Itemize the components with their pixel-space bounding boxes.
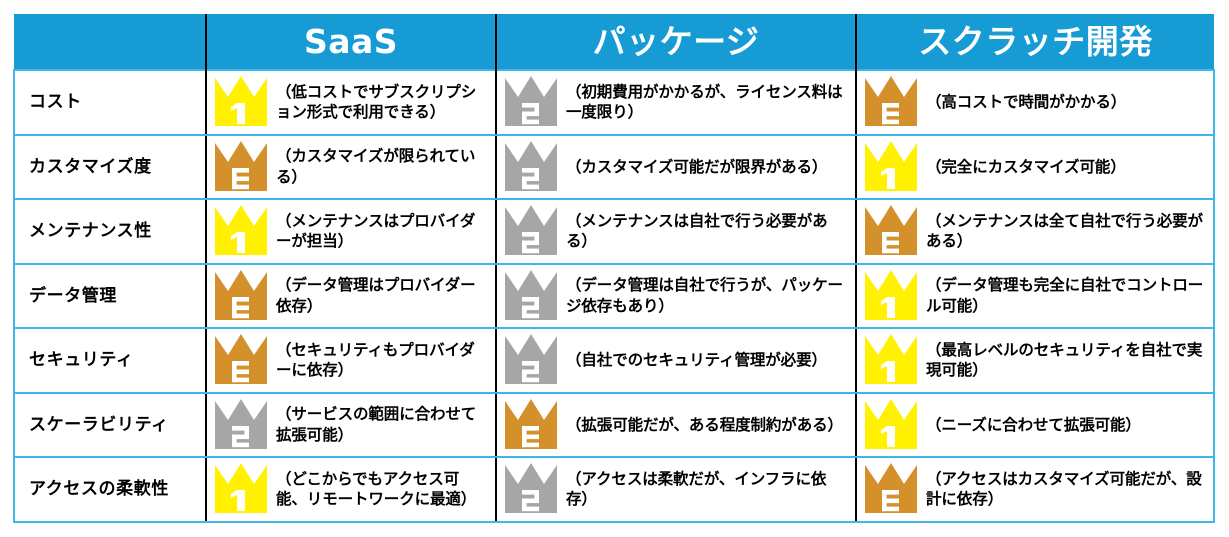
table-row: コスト（低コストでサブスクリプション形式で利用できる）（初期費用がかかるが、ライ… [14,70,1214,135]
rank-2-crown-icon [503,268,559,324]
rank-cell-content: （低コストでサブスクリプション形式で利用できる） [213,74,489,130]
rank-3-crown-icon [503,397,559,453]
row-label-cell: コスト [14,70,206,135]
rank-3-crown-icon [863,203,919,259]
rank-cell-text: （低コストでサブスクリプション形式で利用できる） [276,82,489,123]
rank-cell-text: （アクセスは柔軟だが、インフラに依存） [566,469,849,510]
rank-2-crown-icon [213,397,269,453]
rank-cell: （自社でのセキュリティ管理が必要） [496,328,856,393]
rank-cell-text: （最高レベルのセキュリティを自社で実現可能） [926,340,1207,381]
rank-cell-text: （データ管理も完全に自社でコントロール可能） [926,275,1207,316]
rank-1-crown-icon [213,461,269,517]
rank-cell-content: （メンテナンスは自社で行う必要がある） [503,203,849,259]
rank-1-crown-icon [213,74,269,130]
rank-cell-content: （セキュリティもプロバイダーに依存） [213,332,489,388]
row-label-cell: セキュリティ [14,328,206,393]
rank-cell-content: （カスタマイズが限られている） [213,139,489,195]
rank-cell-content: （サービスの範囲に合わせて拡張可能） [213,397,489,453]
rank-cell-content: （完全にカスタマイズ可能） [863,139,1207,195]
rank-cell: （メンテナンスはプロバイダーが担当） [206,199,496,264]
rank-cell-text: （セキュリティもプロバイダーに依存） [276,340,489,381]
rank-cell: （メンテナンスは全て自社で行う必要がある） [856,199,1214,264]
rank-cell: （拡張可能だが、ある程度制約がある） [496,393,856,458]
rank-cell-text: （カスタマイズ可能だが限界がある） [566,157,849,177]
rank-cell-content: （データ管理は自社で行うが、パッケージ依存もあり） [503,268,849,324]
column-header-saas: SaaS [206,14,496,70]
rank-1-crown-icon [863,268,919,324]
rank-cell: （データ管理も完全に自社でコントロール可能） [856,264,1214,329]
rank-3-crown-icon [863,74,919,130]
rank-cell-text: （データ管理は自社で行うが、パッケージ依存もあり） [566,275,849,316]
column-header-package-label: パッケージ [497,25,855,58]
rank-cell-content: （メンテナンスはプロバイダーが担当） [213,203,489,259]
column-header-scratch-label: スクラッチ開発 [857,25,1214,58]
rank-1-crown-icon [863,332,919,388]
rank-cell-content: （データ管理も完全に自社でコントロール可能） [863,268,1207,324]
rank-cell-content: （高コストで時間がかかる） [863,74,1207,130]
rank-2-crown-icon [503,332,559,388]
rank-cell-text: （メンテナンスは全て自社で行う必要がある） [926,211,1207,252]
rank-cell: （完全にカスタマイズ可能） [856,135,1214,200]
rank-1-crown-icon [863,397,919,453]
row-label-cell: メンテナンス性 [14,199,206,264]
rank-cell: （最高レベルのセキュリティを自社で実現可能） [856,328,1214,393]
table-row: カスタマイズ度（カスタマイズが限られている）（カスタマイズ可能だが限界がある）（… [14,135,1214,200]
row-label: スケーラビリティ [29,415,197,435]
rank-3-crown-icon [213,139,269,195]
row-label: データ管理 [29,286,197,306]
rank-cell-content: （アクセスはカスタマイズ可能だが、設計に依存） [863,461,1207,517]
rank-cell-text: （アクセスはカスタマイズ可能だが、設計に依存） [926,469,1207,510]
row-label: コスト [29,92,197,112]
rank-cell-text: （メンテナンスはプロバイダーが担当） [276,211,489,252]
header-row: SaaS パッケージ スクラッチ開発 [14,14,1214,70]
rank-cell-content: （メンテナンスは全て自社で行う必要がある） [863,203,1207,259]
rank-cell: （低コストでサブスクリプション形式で利用できる） [206,70,496,135]
rank-cell-content: （最高レベルのセキュリティを自社で実現可能） [863,332,1207,388]
rank-cell: （高コストで時間がかかる） [856,70,1214,135]
row-label: アクセスの柔軟性 [29,479,197,499]
rank-cell-content: （自社でのセキュリティ管理が必要） [503,332,849,388]
rank-cell-text: （メンテナンスは自社で行う必要がある） [566,211,849,252]
rank-cell-text: （初期費用がかかるが、ライセンス料は一度限り） [566,82,849,123]
rank-cell: （データ管理は自社で行うが、パッケージ依存もあり） [496,264,856,329]
rank-cell-text: （データ管理はプロバイダー依存） [276,275,489,316]
rank-cell-text: （どこからでもアクセス可能、リモートワークに最適） [276,469,489,510]
rank-1-crown-icon [213,203,269,259]
rank-cell-text: （自社でのセキュリティ管理が必要） [566,350,849,370]
rank-cell-content: （ニーズに合わせて拡張可能） [863,397,1207,453]
row-label: セキュリティ [29,350,197,370]
rank-cell: （メンテナンスは自社で行う必要がある） [496,199,856,264]
table-row: アクセスの柔軟性（どこからでもアクセス可能、リモートワークに最適）（アクセスは柔… [14,457,1214,522]
table-row: メンテナンス性（メンテナンスはプロバイダーが担当）（メンテナンスは自社で行う必要… [14,199,1214,264]
rank-cell: （どこからでもアクセス可能、リモートワークに最適） [206,457,496,522]
table-body: コスト（低コストでサブスクリプション形式で利用できる）（初期費用がかかるが、ライ… [14,70,1214,522]
row-label-cell: アクセスの柔軟性 [14,457,206,522]
row-label: メンテナンス性 [29,221,197,241]
rank-cell: （アクセスはカスタマイズ可能だが、設計に依存） [856,457,1214,522]
rank-cell-text: （完全にカスタマイズ可能） [926,157,1207,177]
rank-cell-content: （拡張可能だが、ある程度制約がある） [503,397,849,453]
rank-cell: （サービスの範囲に合わせて拡張可能） [206,393,496,458]
rank-cell-text: （サービスの範囲に合わせて拡張可能） [276,404,489,445]
row-label-cell: スケーラビリティ [14,393,206,458]
row-label-cell: データ管理 [14,264,206,329]
rank-1-crown-icon [863,139,919,195]
table-row: データ管理（データ管理はプロバイダー依存）（データ管理は自社で行うが、パッケージ… [14,264,1214,329]
rank-cell: （セキュリティもプロバイダーに依存） [206,328,496,393]
table-row: セキュリティ（セキュリティもプロバイダーに依存）（自社でのセキュリティ管理が必要… [14,328,1214,393]
rank-cell: （カスタマイズ可能だが限界がある） [496,135,856,200]
rank-3-crown-icon [863,461,919,517]
rank-cell-content: （データ管理はプロバイダー依存） [213,268,489,324]
rank-cell-content: （カスタマイズ可能だが限界がある） [503,139,849,195]
comparison-table: SaaS パッケージ スクラッチ開発 コスト（低コストでサブスクリプション形式で… [13,14,1215,523]
rank-3-crown-icon [213,268,269,324]
table-header: SaaS パッケージ スクラッチ開発 [14,14,1214,70]
row-label: カスタマイズ度 [29,157,197,177]
table-row: スケーラビリティ（サービスの範囲に合わせて拡張可能）（拡張可能だが、ある程度制約… [14,393,1214,458]
rank-cell-text: （拡張可能だが、ある程度制約がある） [566,415,849,435]
rank-3-crown-icon [213,332,269,388]
rank-2-crown-icon [503,203,559,259]
column-header-package: パッケージ [496,14,856,70]
rank-2-crown-icon [503,461,559,517]
row-label-cell: カスタマイズ度 [14,135,206,200]
column-header-scratch: スクラッチ開発 [856,14,1214,70]
rank-2-crown-icon [503,74,559,130]
rank-cell: （ニーズに合わせて拡張可能） [856,393,1214,458]
rank-cell-content: （初期費用がかかるが、ライセンス料は一度限り） [503,74,849,130]
rank-cell: （データ管理はプロバイダー依存） [206,264,496,329]
rank-2-crown-icon [503,139,559,195]
rank-cell-text: （ニーズに合わせて拡張可能） [926,415,1207,435]
rank-cell-content: （アクセスは柔軟だが、インフラに依存） [503,461,849,517]
rank-cell: （初期費用がかかるが、ライセンス料は一度限り） [496,70,856,135]
column-header-saas-label: SaaS [207,25,495,58]
rank-cell: （アクセスは柔軟だが、インフラに依存） [496,457,856,522]
header-corner-cell [14,14,206,70]
rank-cell: （カスタマイズが限られている） [206,135,496,200]
rank-cell-text: （高コストで時間がかかる） [926,92,1207,112]
rank-cell-text: （カスタマイズが限られている） [276,146,489,187]
rank-cell-content: （どこからでもアクセス可能、リモートワークに最適） [213,461,489,517]
